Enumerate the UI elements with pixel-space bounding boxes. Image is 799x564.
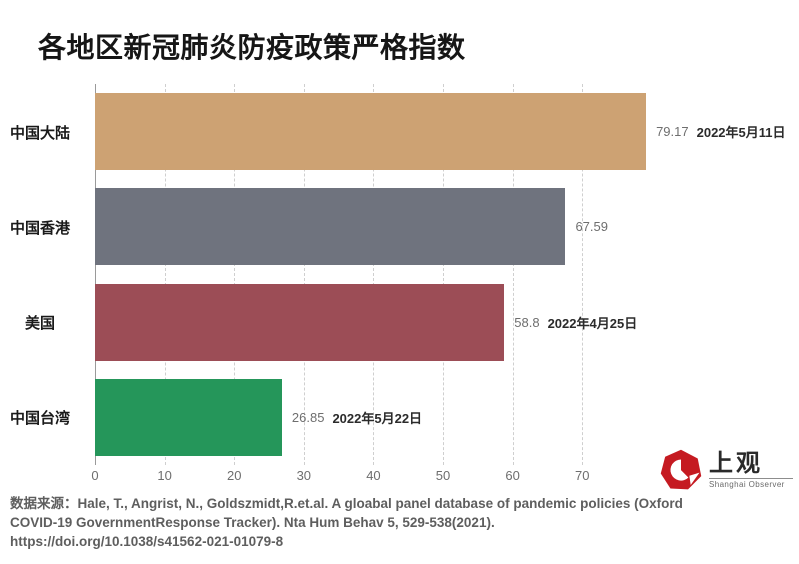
chart-page: 各地区新冠肺炎防疫政策严格指数 79.172022年5月11日67.5958.8… — [0, 0, 799, 564]
category-label-中国大陆: 中国大陆 — [0, 122, 90, 143]
footnote-line-2: COVID-19 GovernmentResponse Tracker). Nt… — [10, 513, 790, 532]
xtick-label-70: 70 — [575, 468, 589, 483]
bar-中国台湾[interactable] — [95, 379, 282, 456]
footnote-line-1: 数据来源：Hale, T., Angrist, N., Goldszmidt,R… — [10, 494, 790, 513]
bar-value-label: 79.17 — [656, 124, 689, 139]
shanghai-observer-logo-icon — [659, 448, 703, 492]
bar-row: 67.59 — [95, 179, 695, 274]
bar-label-group: 79.172022年5月11日 — [656, 93, 785, 170]
footnote-line-3[interactable]: https://doi.org/10.1038/s41562-021-01079… — [10, 532, 790, 551]
plot-area: 79.172022年5月11日67.5958.82022年4月25日26.852… — [95, 84, 695, 465]
xtick-label-0: 0 — [91, 468, 98, 483]
bar-value-label: 26.85 — [292, 410, 325, 425]
xtick-label-20: 20 — [227, 468, 241, 483]
category-label-中国香港: 中国香港 — [0, 217, 90, 238]
xtick-label-10: 10 — [157, 468, 171, 483]
bar-value-label: 67.59 — [575, 219, 608, 234]
logo-divider — [709, 478, 793, 479]
category-label-美国: 美国 — [0, 312, 90, 333]
bar-label-group: 26.852022年5月22日 — [292, 379, 422, 456]
xtick-label-60: 60 — [505, 468, 519, 483]
logo-chinese-name: 上观 — [709, 451, 763, 475]
bar-美国[interactable] — [95, 284, 504, 361]
bar-中国大陆[interactable] — [95, 93, 646, 170]
x-axis: 010203040506070 — [95, 465, 695, 489]
bar-label-group: 58.82022年4月25日 — [514, 284, 637, 361]
logo-english-name: Shanghai Observer — [709, 481, 785, 489]
page-title: 各地区新冠肺炎防疫政策严格指数 — [38, 26, 466, 66]
bar-row: 26.852022年5月22日 — [95, 370, 695, 465]
source-footnote: 数据来源：Hale, T., Angrist, N., Goldszmidt,R… — [10, 494, 790, 551]
bar-date-label: 2022年5月22日 — [332, 408, 422, 427]
logo: 上观 Shanghai Observer — [659, 447, 789, 493]
bar-label-group: 67.59 — [575, 188, 608, 265]
bar-date-label: 2022年5月11日 — [697, 122, 786, 141]
xtick-label-40: 40 — [366, 468, 380, 483]
category-label-中国台湾: 中国台湾 — [0, 407, 90, 428]
bar-中国香港[interactable] — [95, 188, 565, 265]
bar-date-label: 2022年4月25日 — [548, 313, 638, 332]
xtick-label-30: 30 — [297, 468, 311, 483]
bar-value-label: 58.8 — [514, 315, 539, 330]
xtick-label-50: 50 — [436, 468, 450, 483]
bar-row: 79.172022年5月11日 — [95, 84, 695, 179]
bar-row: 58.82022年4月25日 — [95, 275, 695, 370]
logo-text: 上观 Shanghai Observer — [709, 451, 793, 489]
